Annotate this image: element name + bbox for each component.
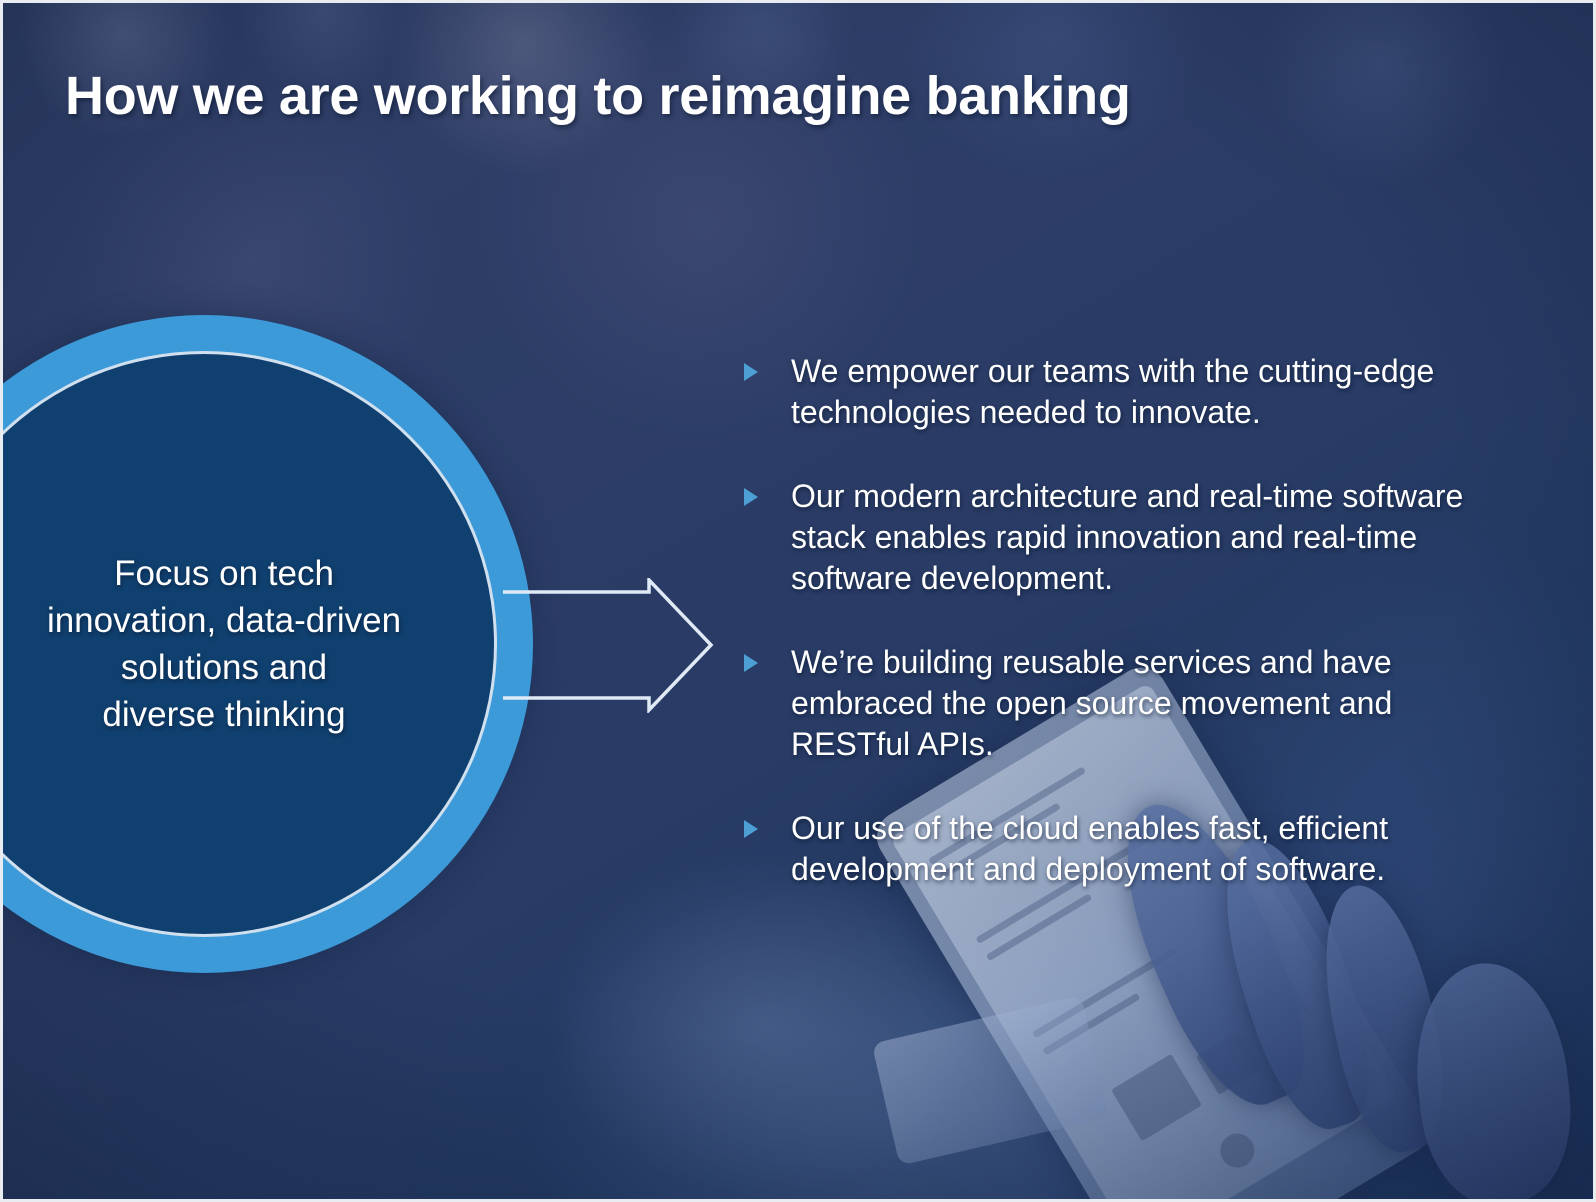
right-arrow-icon bbox=[501, 578, 716, 713]
list-item: We’re building reusable services and hav… bbox=[743, 642, 1483, 765]
slide-title: How we are working to reimagine banking bbox=[65, 65, 1131, 127]
list-item: Our modern architecture and real-time so… bbox=[743, 476, 1483, 599]
circle-label-line-2: innovation, data-driven bbox=[14, 597, 434, 644]
triangle-bullet-icon bbox=[743, 487, 759, 507]
focus-circle: Focus on tech innovation, data-driven so… bbox=[0, 315, 533, 973]
bullet-list: We empower our teams with the cutting-ed… bbox=[743, 351, 1483, 890]
triangle-bullet-icon bbox=[743, 819, 759, 839]
triangle-bullet-icon bbox=[743, 653, 759, 673]
triangle-bullet-icon bbox=[743, 362, 759, 382]
circle-label-line-4: diverse thinking bbox=[14, 691, 434, 738]
circle-label: Focus on tech innovation, data-driven so… bbox=[14, 550, 434, 738]
list-item: We empower our teams with the cutting-ed… bbox=[743, 351, 1483, 433]
bullet-text: We empower our teams with the cutting-ed… bbox=[791, 351, 1483, 433]
presentation-slide: How we are working to reimagine banking … bbox=[0, 0, 1596, 1202]
circle-label-line-3: solutions and bbox=[14, 644, 434, 691]
circle-label-line-1: Focus on tech bbox=[14, 550, 434, 597]
list-item: Our use of the cloud enables fast, effic… bbox=[743, 808, 1483, 890]
bullet-text: We’re building reusable services and hav… bbox=[791, 642, 1483, 765]
bullet-text: Our modern architecture and real-time so… bbox=[791, 476, 1483, 599]
background-thumb bbox=[1406, 956, 1580, 1202]
bullet-text: Our use of the cloud enables fast, effic… bbox=[791, 808, 1483, 890]
